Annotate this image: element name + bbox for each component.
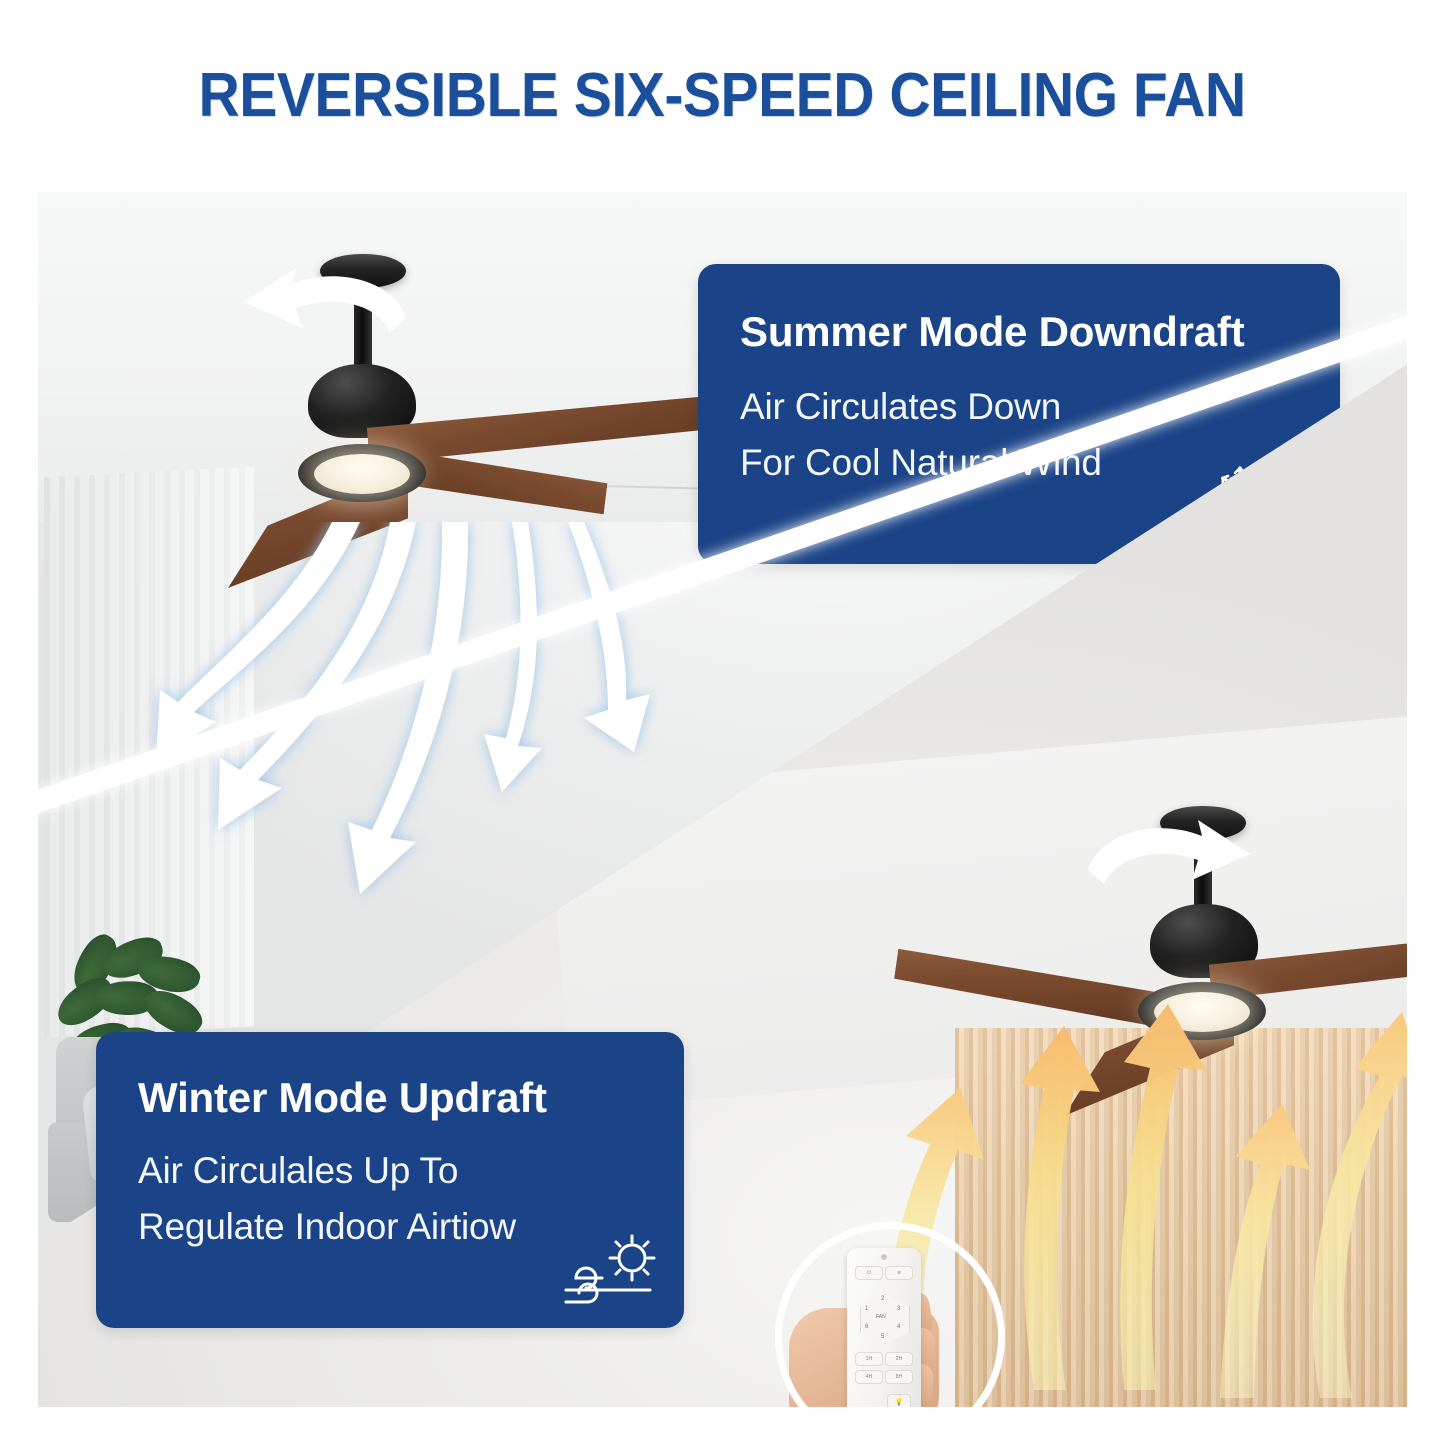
page-header: REVERSIBLE SIX-SPEED CEILING FAN xyxy=(0,0,1445,190)
winter-card-line-1: Air Circulales Up To xyxy=(138,1150,648,1192)
page-title: REVERSIBLE SIX-SPEED CEILING FAN xyxy=(199,60,1246,131)
fan-led-light xyxy=(314,454,410,494)
sun-wind-icon xyxy=(558,1234,666,1316)
summer-card-heading: Summer Mode Downdraft xyxy=(740,308,1300,356)
rotation-arrow-left-icon xyxy=(226,262,416,392)
infographic-stage: Summer Mode Downdraft Air Circulates Dow… xyxy=(38,192,1407,1407)
winter-mode-card: Winter Mode Updraft Air Circulales Up To… xyxy=(96,1032,684,1328)
winter-card-heading: Winter Mode Updraft xyxy=(138,1074,648,1122)
